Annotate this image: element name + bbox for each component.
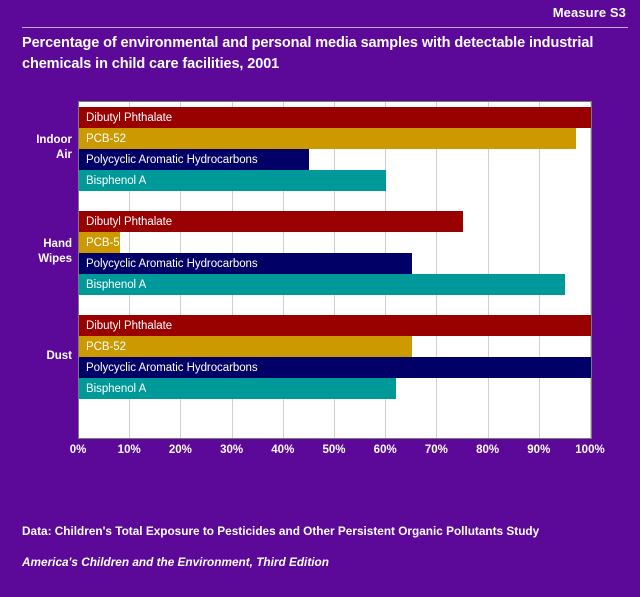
measure-label: Measure S3: [553, 5, 626, 20]
bar: Bisphenol A: [79, 170, 386, 191]
header-divider: [22, 27, 628, 28]
bar-label: Bisphenol A: [86, 175, 146, 187]
gridline: [436, 102, 437, 438]
gridline: [539, 102, 540, 438]
plot-area: Dibutyl PhthalatePCB-52Polycyclic Aromat…: [78, 101, 592, 439]
x-tick-label: 10%: [118, 444, 141, 456]
bar-label: PCB-52: [86, 237, 126, 249]
x-tick-label: 50%: [322, 444, 345, 456]
category-label: Dust: [2, 349, 72, 364]
bar: PCB-52: [79, 232, 120, 253]
x-tick-label: 30%: [220, 444, 243, 456]
bar: PCB-52: [79, 336, 412, 357]
x-tick-label: 100%: [575, 444, 604, 456]
bar-label: Bisphenol A: [86, 279, 146, 291]
footer-data-note: Data: Children's Total Exposure to Pesti…: [22, 523, 542, 541]
bar: Bisphenol A: [79, 274, 565, 295]
gridline: [488, 102, 489, 438]
bar-label: Dibutyl Phthalate: [86, 320, 172, 332]
chart-container: Dibutyl PhthalatePCB-52Polycyclic Aromat…: [0, 96, 640, 486]
category-label: HandWipes: [2, 237, 72, 266]
bar: Dibutyl Phthalate: [79, 315, 591, 336]
bar-label: Polycyclic Aromatic Hydrocarbons: [86, 362, 258, 374]
x-tick-label: 90%: [527, 444, 550, 456]
bar-label: Dibutyl Phthalate: [86, 112, 172, 124]
bar: Polycyclic Aromatic Hydrocarbons: [79, 253, 412, 274]
footer: Data: Children's Total Exposure to Pesti…: [22, 523, 622, 569]
category-label: IndoorAir: [2, 133, 72, 162]
bar: Bisphenol A: [79, 378, 396, 399]
bar: Dibutyl Phthalate: [79, 107, 591, 128]
bar: Polycyclic Aromatic Hydrocarbons: [79, 149, 309, 170]
page-title: Percentage of environmental and personal…: [22, 33, 618, 74]
x-tick-label: 40%: [271, 444, 294, 456]
chart-page: Measure S3 Percentage of environmental a…: [0, 0, 640, 597]
bar-label: PCB-52: [86, 133, 126, 145]
bar-label: PCB-52: [86, 341, 126, 353]
bar-label: Bisphenol A: [86, 383, 146, 395]
gridline: [590, 102, 591, 438]
bar: Polycyclic Aromatic Hydrocarbons: [79, 357, 591, 378]
x-tick-label: 20%: [169, 444, 192, 456]
x-tick-label: 80%: [476, 444, 499, 456]
bar-label: Polycyclic Aromatic Hydrocarbons: [86, 154, 258, 166]
bar-label: Dibutyl Phthalate: [86, 216, 172, 228]
x-tick-label: 60%: [374, 444, 397, 456]
bar-label: Polycyclic Aromatic Hydrocarbons: [86, 258, 258, 270]
footer-source: America's Children and the Environment, …: [22, 555, 622, 569]
bar: Dibutyl Phthalate: [79, 211, 463, 232]
x-tick-label: 70%: [425, 444, 448, 456]
bar: PCB-52: [79, 128, 576, 149]
x-tick-label: 0%: [70, 444, 87, 456]
